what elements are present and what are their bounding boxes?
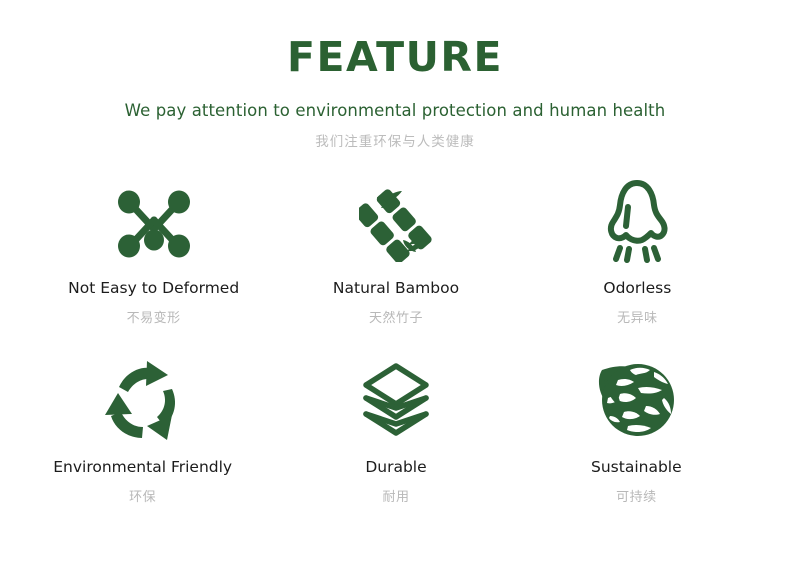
feature-item-natural-bamboo: Natural Bamboo 天然竹子	[264, 175, 527, 326]
bamboo-icon	[359, 175, 433, 271]
section-header: FEATURE We pay attention to environmenta…	[0, 0, 790, 150]
feature-item-environmental-friendly: Environmental Friendly 环保	[11, 350, 274, 505]
feature-label: Odorless	[603, 279, 671, 297]
molecule-lattice-icon	[114, 175, 194, 271]
feature-row: Environmental Friendly 环保	[0, 350, 790, 505]
feature-label-chinese: 天然竹子	[369, 307, 423, 326]
page-title: FEATURE	[0, 36, 790, 79]
feature-label-chinese: 耐用	[382, 486, 409, 505]
feature-label: Natural Bamboo	[333, 279, 459, 297]
nose-icon	[604, 175, 670, 271]
feature-item-not-easy-to-deformed: Not Easy to Deformed 不易变形	[22, 175, 285, 326]
feature-item-sustainable: Sustainable 可持续	[505, 350, 768, 505]
feature-item-durable: Durable 耐用	[264, 350, 527, 505]
globe-leaf-icon	[594, 350, 678, 450]
feature-label: Environmental Friendly	[53, 458, 232, 476]
feature-label: Not Easy to Deformed	[68, 279, 239, 297]
feature-label: Durable	[365, 458, 426, 476]
subtitle-english: We pay attention to environmental protec…	[0, 101, 790, 120]
feature-label-chinese: 无异味	[617, 307, 658, 326]
feature-section: FEATURE We pay attention to environmenta…	[0, 0, 790, 576]
feature-grid: Not Easy to Deformed 不易变形	[0, 175, 790, 505]
feature-label-chinese: 不易变形	[127, 307, 181, 326]
feature-label-chinese: 环保	[129, 486, 156, 505]
recycle-icon	[102, 350, 184, 450]
subtitle-chinese: 我们注重环保与人类健康	[0, 130, 790, 150]
feature-label-chinese: 可持续	[616, 486, 657, 505]
feature-row: Not Easy to Deformed 不易变形	[0, 175, 790, 326]
layers-stack-icon	[361, 350, 431, 450]
feature-label: Sustainable	[591, 458, 682, 476]
feature-item-odorless: Odorless 无异味	[506, 175, 769, 326]
